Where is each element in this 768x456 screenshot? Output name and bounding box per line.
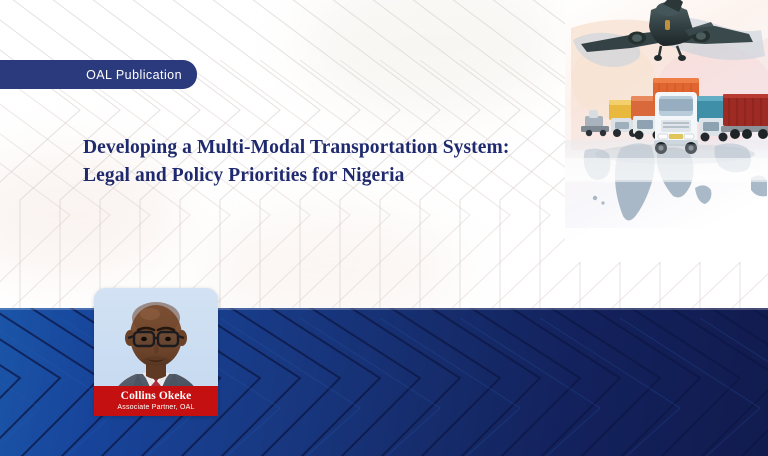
speaker-name: Collins Okeke [121, 390, 192, 403]
hero-logistics-image [565, 0, 768, 262]
title-line-1-text: Developing a Multi-Modal Transportation … [83, 137, 503, 158]
publication-banner: OAL Publication Developing a Multi-Modal… [0, 0, 768, 456]
oal-publication-badge: OAL Publication [0, 60, 197, 89]
badge-label: OAL Publication [86, 68, 182, 82]
speaker-name-band: Collins Okeke Associate Partner, OAL [94, 386, 218, 416]
truck-teal-icon [697, 96, 728, 142]
title-line-1: Developing a Multi-Modal Transportation … [83, 134, 553, 162]
speaker-card: Collins Okeke Associate Partner, OAL [94, 288, 218, 416]
page-title: Developing a Multi-Modal Transportation … [83, 134, 553, 190]
truck-main-white-icon [653, 78, 699, 154]
title-line-2: Legal and Policy Priorities for Nigeria [83, 162, 553, 190]
logistics-illustration-icon [565, 0, 768, 262]
speaker-role: Associate Partner, OAL [117, 403, 194, 413]
title-colon: : [503, 137, 510, 158]
